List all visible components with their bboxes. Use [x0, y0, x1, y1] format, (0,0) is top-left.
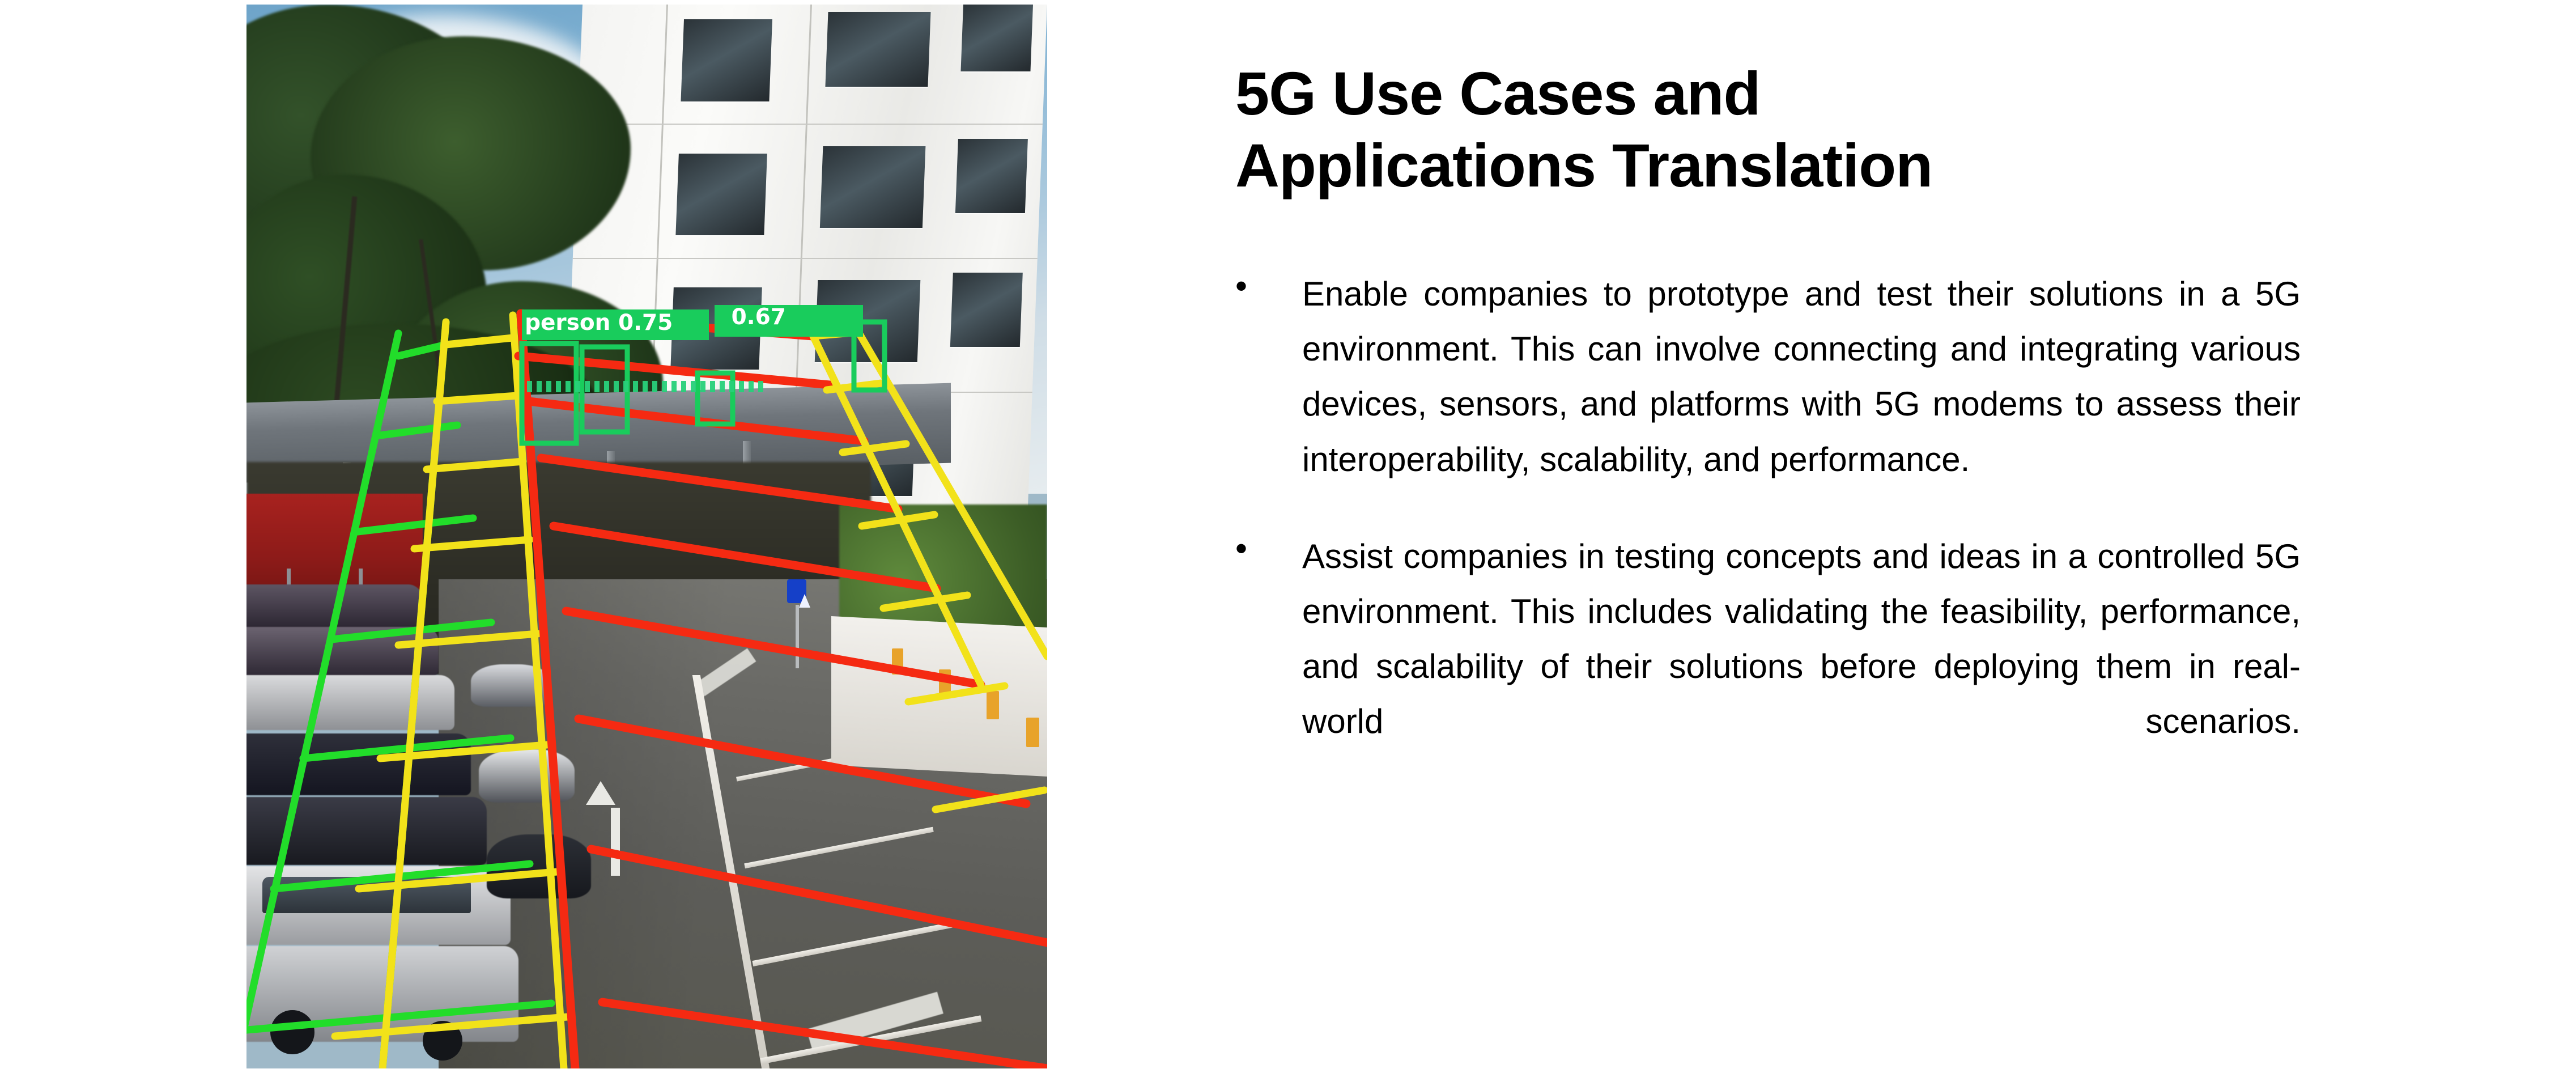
building-window [826, 12, 930, 86]
orange-bollard [1026, 718, 1039, 747]
page-title-line-2: Applications Translation [1235, 131, 1932, 200]
page-title: 5G Use Cases and Applications Translatio… [1235, 58, 2306, 201]
building-window [821, 146, 926, 228]
parked-car [246, 797, 487, 865]
sign-pole [796, 605, 799, 669]
bullet-marker-icon: • [1235, 266, 1302, 487]
bullet-marker-icon: • [1235, 529, 1302, 804]
parked-car [246, 627, 439, 676]
list-item: • Assist companies in testing concepts a… [1235, 529, 2301, 804]
parked-scooter [471, 664, 551, 707]
parked-car [246, 733, 471, 795]
orange-bollard [939, 669, 951, 697]
building-window [955, 139, 1028, 213]
list-item: • Enable companies to prototype and test… [1235, 266, 2301, 487]
building-floor-line [573, 258, 1038, 259]
page-title-line-1: 5G Use Cases and [1235, 59, 1760, 128]
car-wheel [423, 1021, 462, 1061]
bullet-text: Assist companies in testing concepts and… [1302, 529, 2301, 804]
orange-bollard [892, 648, 903, 675]
road-arrow [611, 808, 620, 876]
car-windshield [262, 877, 470, 913]
parked-scooter [487, 834, 591, 898]
bullet-text: Enable companies to prototype and test t… [1302, 266, 2301, 487]
orange-bollard [987, 691, 999, 719]
building-window [961, 5, 1033, 71]
parked-car [246, 584, 423, 629]
detection-label-score: 0.75 [618, 310, 673, 336]
parked-car [246, 675, 454, 731]
road-arrow-head [586, 781, 615, 805]
building-window [681, 19, 772, 101]
annotated-photo: person 0.75 0.67 [246, 5, 1047, 1068]
building-window [676, 154, 767, 236]
blue-direction-sign-arrow [799, 594, 810, 608]
detection-label-score-2: 0.67 [732, 304, 786, 330]
bullet-list: • Enable companies to prototype and test… [1235, 266, 2301, 846]
detection-label-class: person [525, 310, 610, 336]
detection-label-person: person 0.75 [522, 310, 675, 336]
slide-text-column: 5G Use Cases and Applications Translatio… [1235, 0, 2306, 1073]
building-window [815, 280, 921, 362]
car-wheel [270, 1010, 314, 1054]
detection-label-second: 0.67 [729, 304, 789, 330]
vehicle-plate-text [527, 381, 767, 392]
building-window [950, 273, 1023, 347]
building-floor-line [578, 124, 1043, 125]
parked-scooter [479, 749, 575, 803]
